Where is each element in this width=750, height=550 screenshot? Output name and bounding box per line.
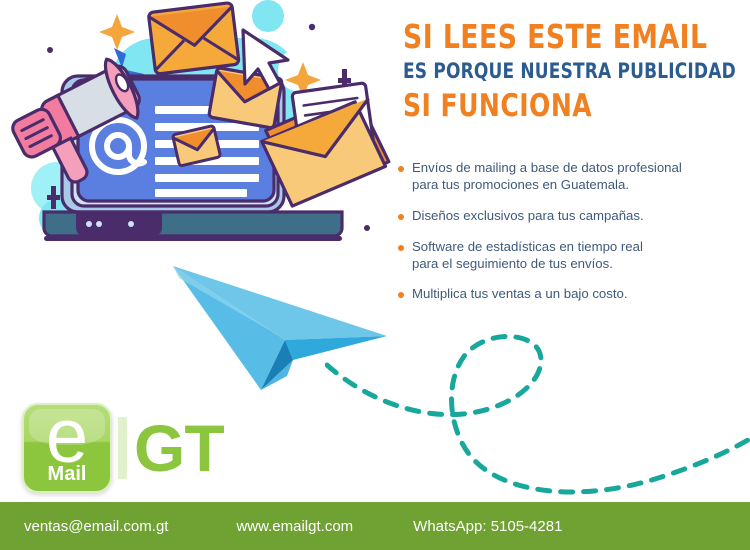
list-item-text: Software de estadísticas en tiempo real …: [412, 239, 643, 273]
logo-divider: [118, 417, 127, 479]
list-item: Software de estadísticas en tiempo real …: [398, 239, 748, 273]
bullet-dot-icon: [398, 292, 404, 298]
headline-line-3: SI FUNCIONA: [403, 90, 714, 123]
list-item: Envíos de mailing a base de datos profes…: [398, 160, 748, 194]
benefits-list: Envíos de mailing a base de datos profes…: [398, 160, 748, 317]
footer-website[interactable]: www.emailgt.com: [236, 518, 353, 535]
contact-footer-bar: ventas@email.com.gt www.emailgt.com What…: [0, 502, 750, 550]
headline-line-2: ES PORQUE NUESTRA PUBLICIDAD: [403, 58, 714, 84]
bullet-dot-icon: [398, 166, 404, 172]
list-item: Multiplica tus ventas a un bajo costo.: [398, 286, 748, 303]
logo-word-mail: Mail: [24, 464, 110, 484]
envelope-top-illustration: [148, 2, 239, 74]
footer-whatsapp[interactable]: WhatsApp: 5105-4281: [413, 518, 562, 535]
footer-email[interactable]: ventas@email.com.gt: [24, 518, 168, 535]
logo-suffix-gt: GT: [134, 415, 224, 481]
list-item: Diseños exclusivos para tus campañas.: [398, 208, 748, 225]
advertisement-poster: SI LEES ESTE EMAIL ES PORQUE NUESTRA PUB…: [0, 0, 750, 550]
dashed-trail-illustration: [325, 325, 750, 510]
bullet-dot-icon: [398, 214, 404, 220]
list-item-text: Diseños exclusivos para tus campañas.: [412, 208, 644, 225]
headline-line-1: SI LEES ESTE EMAIL: [403, 20, 714, 54]
logo-badge: e Mail: [22, 403, 112, 493]
list-item-text: Multiplica tus ventas a un bajo costo.: [412, 286, 628, 303]
list-item-text: Envíos de mailing a base de datos profes…: [412, 160, 682, 194]
headline-block: SI LEES ESTE EMAIL ES PORQUE NUESTRA PUB…: [403, 20, 748, 122]
email-marketing-illustration: [0, 0, 400, 270]
brand-logo: e Mail GT: [22, 400, 224, 496]
bullet-dot-icon: [398, 245, 404, 251]
